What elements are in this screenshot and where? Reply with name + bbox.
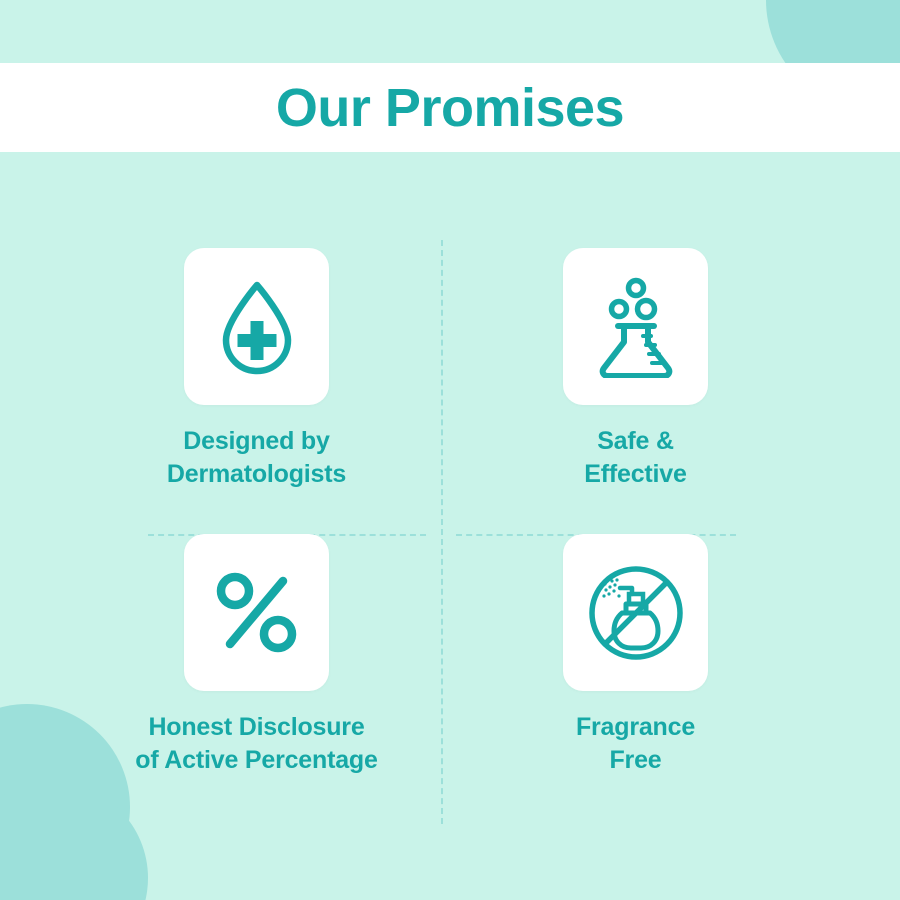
droplet-plus-icon xyxy=(210,277,304,377)
icon-card-droplet xyxy=(184,248,329,405)
promise-item-honest-disclosure: Honest Disclosure of Active Percentage xyxy=(0,534,441,834)
promise-item-designed-by-dermatologists: Designed by Dermatologists xyxy=(0,248,441,534)
promise-label: Honest Disclosure of Active Percentage xyxy=(135,711,377,777)
promise-item-safe-effective: Safe & Effective xyxy=(441,248,900,534)
percent-icon xyxy=(212,567,302,659)
top-right-blob-block xyxy=(828,0,900,64)
promises-infographic: Our Promises Designed by Dermatologists xyxy=(0,0,900,900)
promise-label: Fragrance Free xyxy=(576,711,695,777)
header-band: Our Promises xyxy=(0,63,900,152)
icon-card-flask xyxy=(563,248,708,405)
promise-label: Designed by Dermatologists xyxy=(167,425,346,491)
icon-card-no-fragrance xyxy=(563,534,708,691)
no-fragrance-icon xyxy=(586,563,686,663)
icon-card-percent xyxy=(184,534,329,691)
promise-label: Safe & Effective xyxy=(584,425,686,491)
page-title: Our Promises xyxy=(276,81,624,135)
promise-item-fragrance-free: Fragrance Free xyxy=(441,534,900,834)
promise-grid: Designed by Dermatologists xyxy=(0,248,900,834)
lab-flask-icon xyxy=(588,276,684,378)
